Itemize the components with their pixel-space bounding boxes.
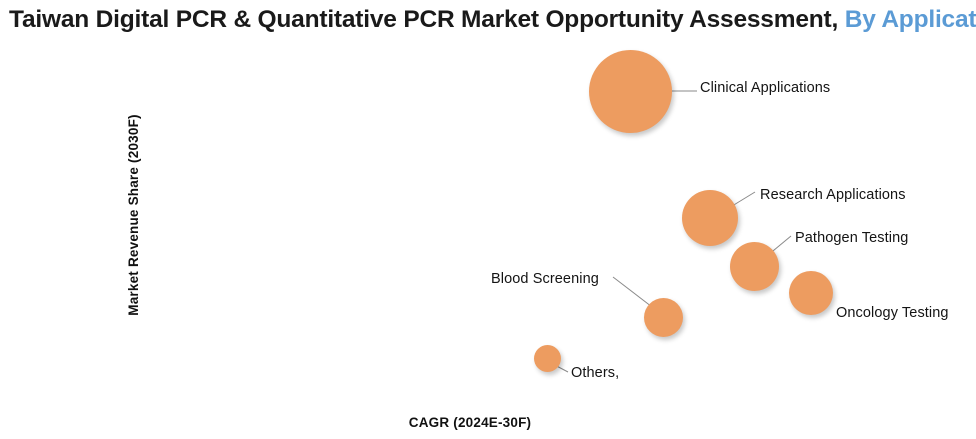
bubble-others[interactable]: [534, 345, 561, 372]
point-label-others: Others,: [571, 365, 619, 381]
bubble-clinical-applications[interactable]: [589, 50, 672, 133]
bubble-chart-figure: Taiwan Digital PCR & Quantitative PCR Ma…: [0, 0, 976, 439]
plot-area: Clinical ApplicationsResearch Applicatio…: [0, 0, 976, 439]
point-label-oncology-testing: Oncology Testing: [836, 305, 949, 321]
leader-lines: [0, 0, 976, 439]
bubble-oncology-testing[interactable]: [789, 271, 833, 315]
point-label-clinical-applications: Clinical Applications: [700, 80, 830, 96]
bubble-blood-screening[interactable]: [644, 298, 683, 337]
bubble-pathogen-testing[interactable]: [730, 242, 779, 291]
point-label-blood-screening: Blood Screening: [491, 271, 599, 287]
bubble-research-applications[interactable]: [682, 190, 738, 246]
point-label-pathogen-testing: Pathogen Testing: [795, 230, 908, 246]
point-label-research-applications: Research Applications: [760, 187, 906, 203]
